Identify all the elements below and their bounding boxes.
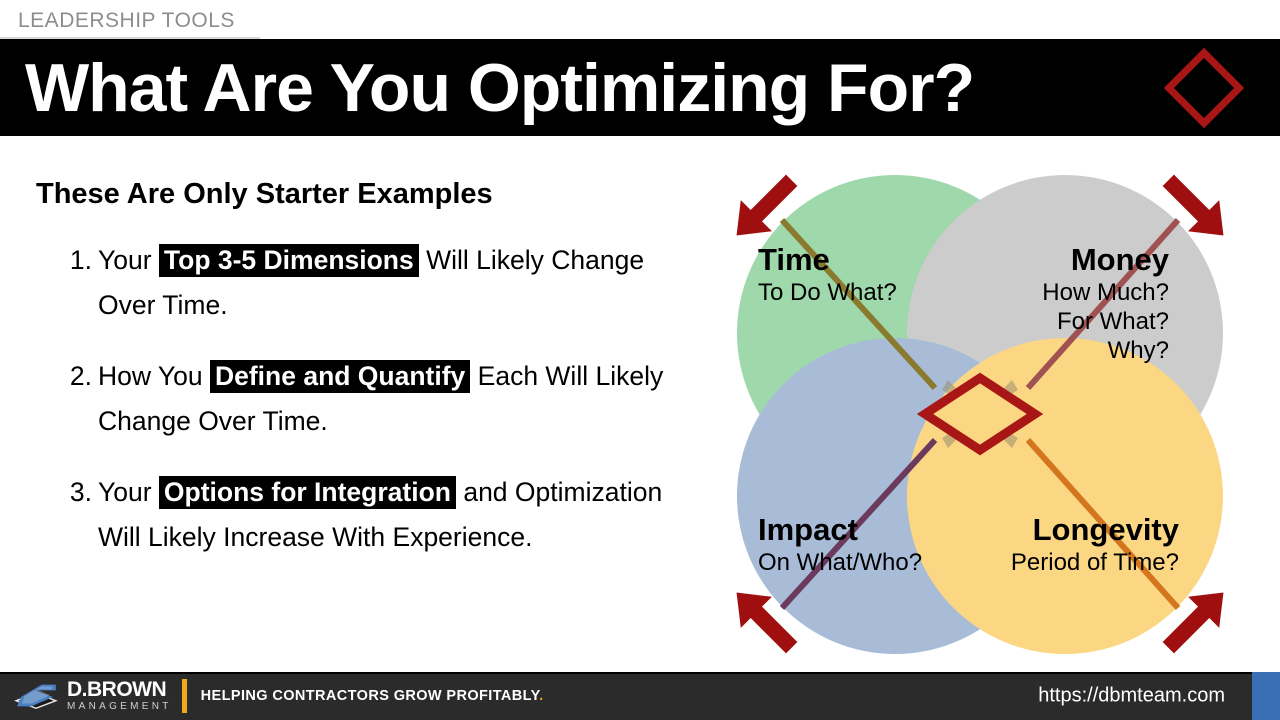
venn-label-longevity-title: Longevity xyxy=(1011,512,1179,548)
brand-name: D.BROWN xyxy=(67,679,172,700)
page-title: What Are You Optimizing For? xyxy=(25,53,974,123)
footer-bar: D.BROWN MANAGEMENT HELPING CONTRACTORS G… xyxy=(0,672,1280,720)
point-pre: How You xyxy=(98,361,210,391)
footer-tagline: HELPING CONTRACTORS GROW PROFITABLY. xyxy=(201,688,544,704)
venn-diagram: Time To Do What? Money How Much? For Wha… xyxy=(690,148,1265,663)
venn-label-impact: Impact On What/Who? xyxy=(758,512,922,577)
point-highlight: Define and Quantify xyxy=(210,360,470,393)
venn-label-time-title: Time xyxy=(758,242,897,278)
dbrown-logo-icon xyxy=(12,679,60,713)
diamond-outline-icon xyxy=(1164,48,1244,128)
point-highlight: Top 3-5 Dimensions xyxy=(159,244,419,277)
footer-url[interactable]: https://dbmteam.com xyxy=(1038,685,1225,708)
footer-tagline-dot: . xyxy=(539,688,543,704)
venn-label-impact-title: Impact xyxy=(758,512,922,548)
list-number: 1. xyxy=(64,238,92,283)
brand-logo: D.BROWN MANAGEMENT xyxy=(12,679,172,713)
venn-label-time-sub: To Do What? xyxy=(758,278,897,307)
eyebrow-label: LEADERSHIP TOOLS xyxy=(18,8,235,34)
footer-accent-divider xyxy=(182,679,187,713)
venn-label-money-title: Money xyxy=(1042,242,1169,278)
venn-label-impact-sub: On What/Who? xyxy=(758,548,922,577)
subheading: These Are Only Starter Examples xyxy=(36,178,493,211)
brand-logo-text: D.BROWN MANAGEMENT xyxy=(67,679,172,713)
venn-label-time: Time To Do What? xyxy=(758,242,897,307)
footer-divider xyxy=(0,672,1280,674)
footer-tagline-text: HELPING CONTRACTORS GROW PROFITABLY xyxy=(201,688,539,704)
list-item: 1.Your Top 3-5 Dimensions Will Likely Ch… xyxy=(64,238,689,328)
venn-label-money-sub-3: Why? xyxy=(1042,336,1169,365)
list-item: 2.How You Define and Quantify Each Will … xyxy=(64,354,689,444)
venn-label-money-sub-1: How Much? xyxy=(1042,278,1169,307)
list-item: 3.Your Options for Integration and Optim… xyxy=(64,470,689,560)
list-number: 2. xyxy=(64,354,92,399)
point-pre: Your xyxy=(98,477,159,507)
venn-label-longevity-sub: Period of Time? xyxy=(1011,548,1179,577)
left-content: These Are Only Starter Examples 1.Your T… xyxy=(0,150,690,655)
venn-label-money-sub-2: For What? xyxy=(1042,307,1169,336)
points-list: 1.Your Top 3-5 Dimensions Will Likely Ch… xyxy=(34,238,689,586)
point-pre: Your xyxy=(98,245,159,275)
point-highlight: Options for Integration xyxy=(159,476,456,509)
venn-label-longevity: Longevity Period of Time? xyxy=(1011,512,1179,577)
venn-svg xyxy=(690,148,1265,663)
title-bar: What Are You Optimizing For? xyxy=(0,39,1280,136)
venn-label-money: Money How Much? For What? Why? xyxy=(1042,242,1169,365)
slide: LEADERSHIP TOOLS What Are You Optimizing… xyxy=(0,0,1280,720)
brand-subname: MANAGEMENT xyxy=(67,700,172,713)
footer-blue-block xyxy=(1252,672,1280,720)
list-number: 3. xyxy=(64,470,92,515)
